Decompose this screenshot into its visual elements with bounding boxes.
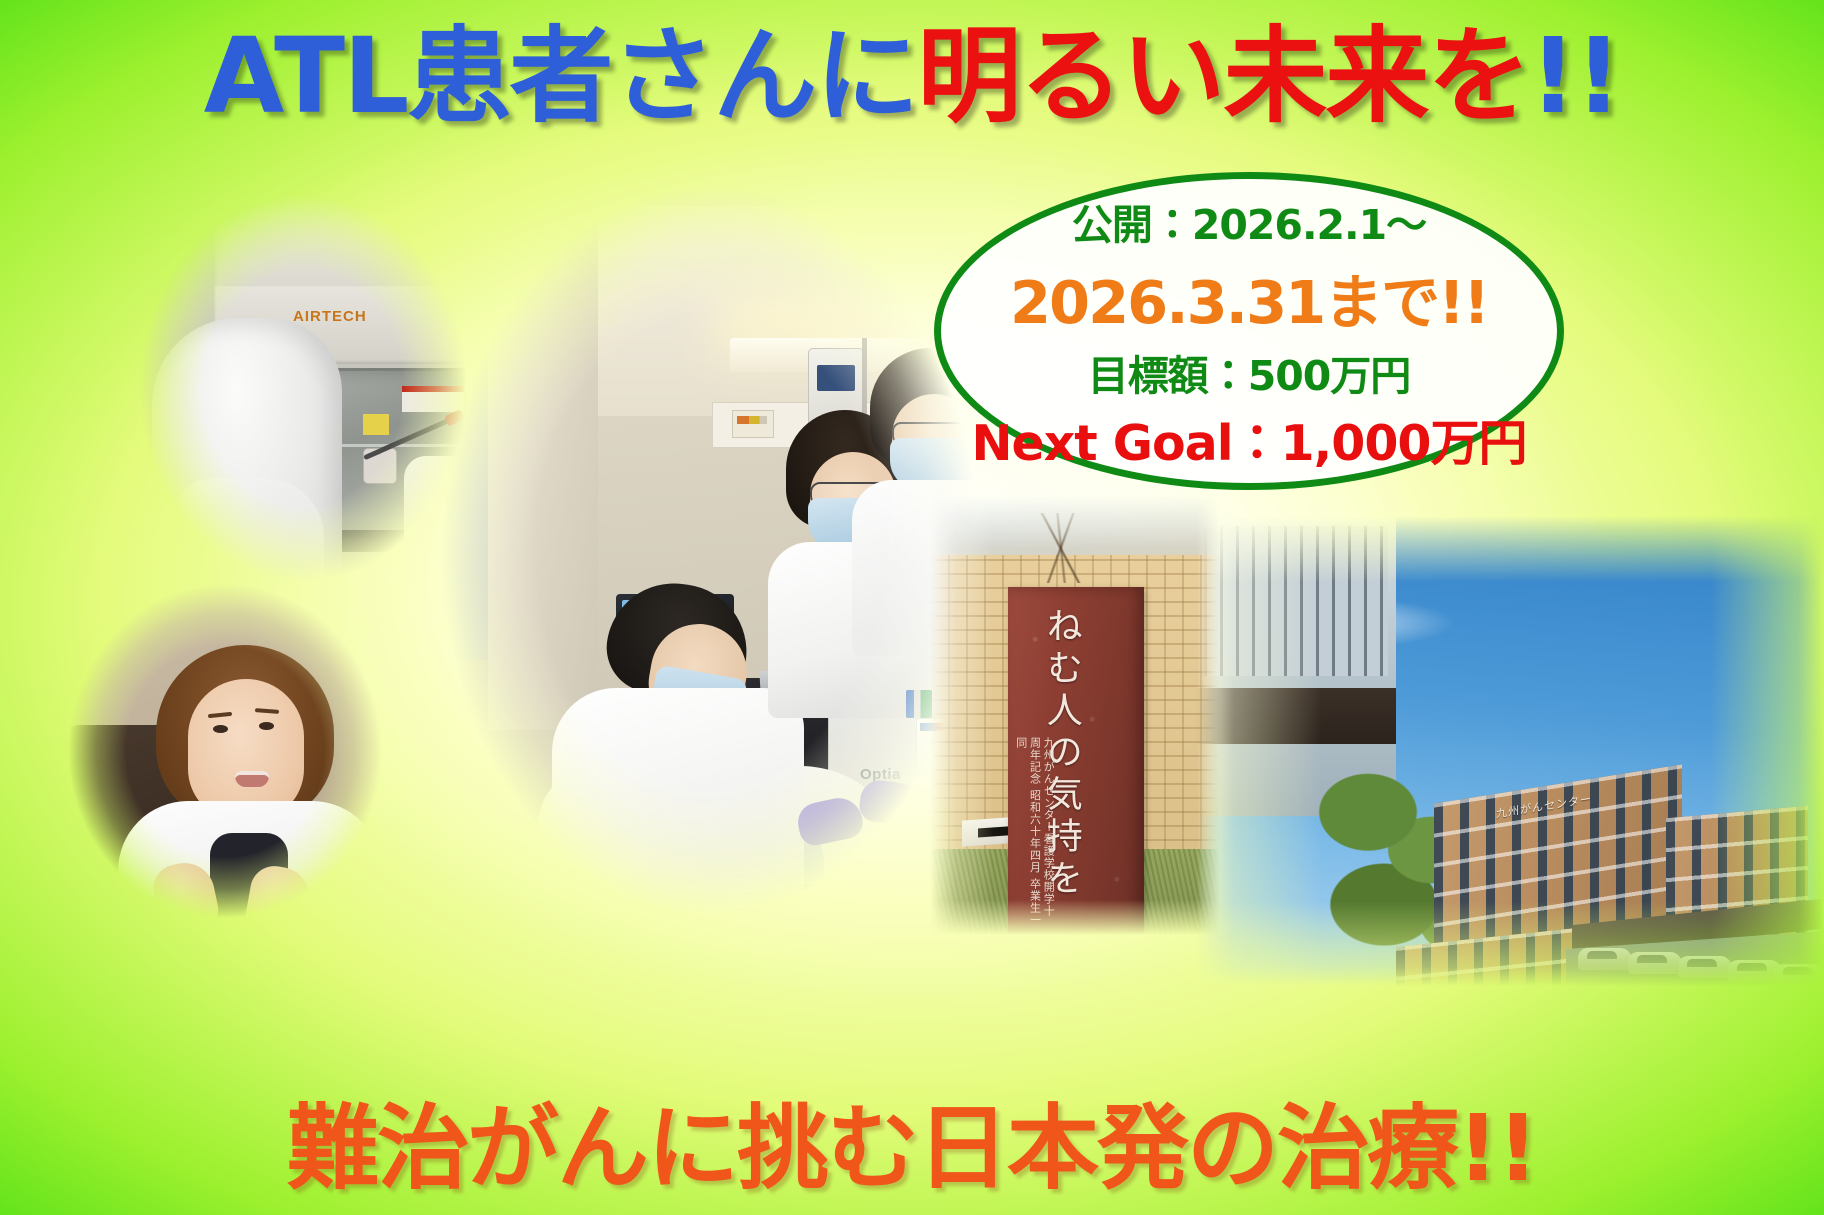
title-segment-blue-1: ATL患者さんに [204,15,918,137]
callout-goal-amount: 目標額：500万円 [1088,342,1411,402]
parked-car [1628,952,1682,974]
parked-car [1678,956,1732,978]
photo-hospital-building: 九州がんセンター [1196,516,1824,986]
bottom-caption: 難治がんに挑む日本発の治療!! [0,1074,1824,1207]
page-title: ATL患者さんに明るい未来を!! [0,18,1824,134]
callout-next-goal-amount: Next Goal：1,000万円 [971,404,1526,475]
photo-apheresis-treatment-room: Optia [430,170,990,930]
lab-caution-sticker [363,414,389,435]
monument-granite-stele: ねむ人の気持を 九州がんセンター看護学校開学十周年記念 昭和六十年四月 卒業生一… [1008,587,1144,935]
parked-car [1774,964,1824,986]
photo-memorial-stone: ねむ人の気持を 九州がんセンター看護学校開学十周年記念 昭和六十年四月 卒業生一… [930,495,1220,935]
campaign-callout-oval: 公開：2026.2.1〜 2026.3.31まで!! 目標額：500万円 Nex… [934,172,1564,490]
photo-cell-processing-lab: AIRTECH [118,178,474,598]
photo-doctor-interview [60,575,390,927]
doctor-mouth [235,771,269,787]
poster-canvas: AIRTECH [0,0,1824,1215]
airtech-brand-label: AIRTECH [293,308,367,325]
monument-bare-branches [970,513,1160,583]
title-segment-red: 明るい未来を [917,15,1529,137]
doctor-face [188,679,304,821]
lab-technician-cleanroom-suit [152,318,342,598]
nurse-chest-pens [906,690,932,718]
monument-inscription-text: 九州がんセンター看護学校開学十周年記念 昭和六十年四月 卒業生一同 [1014,737,1055,927]
title-segment-exclamation: !! [1529,15,1620,137]
callout-release-date: 公開：2026.2.1〜 [1072,191,1426,251]
parked-car [1578,948,1632,970]
doctor-eye-left [213,725,228,733]
doctor-eye-right [259,722,274,730]
callout-deadline-date: 2026.3.31まで!! [1010,255,1488,340]
physician-white-coat [552,688,804,912]
hospital-glass-band [1196,688,1396,744]
